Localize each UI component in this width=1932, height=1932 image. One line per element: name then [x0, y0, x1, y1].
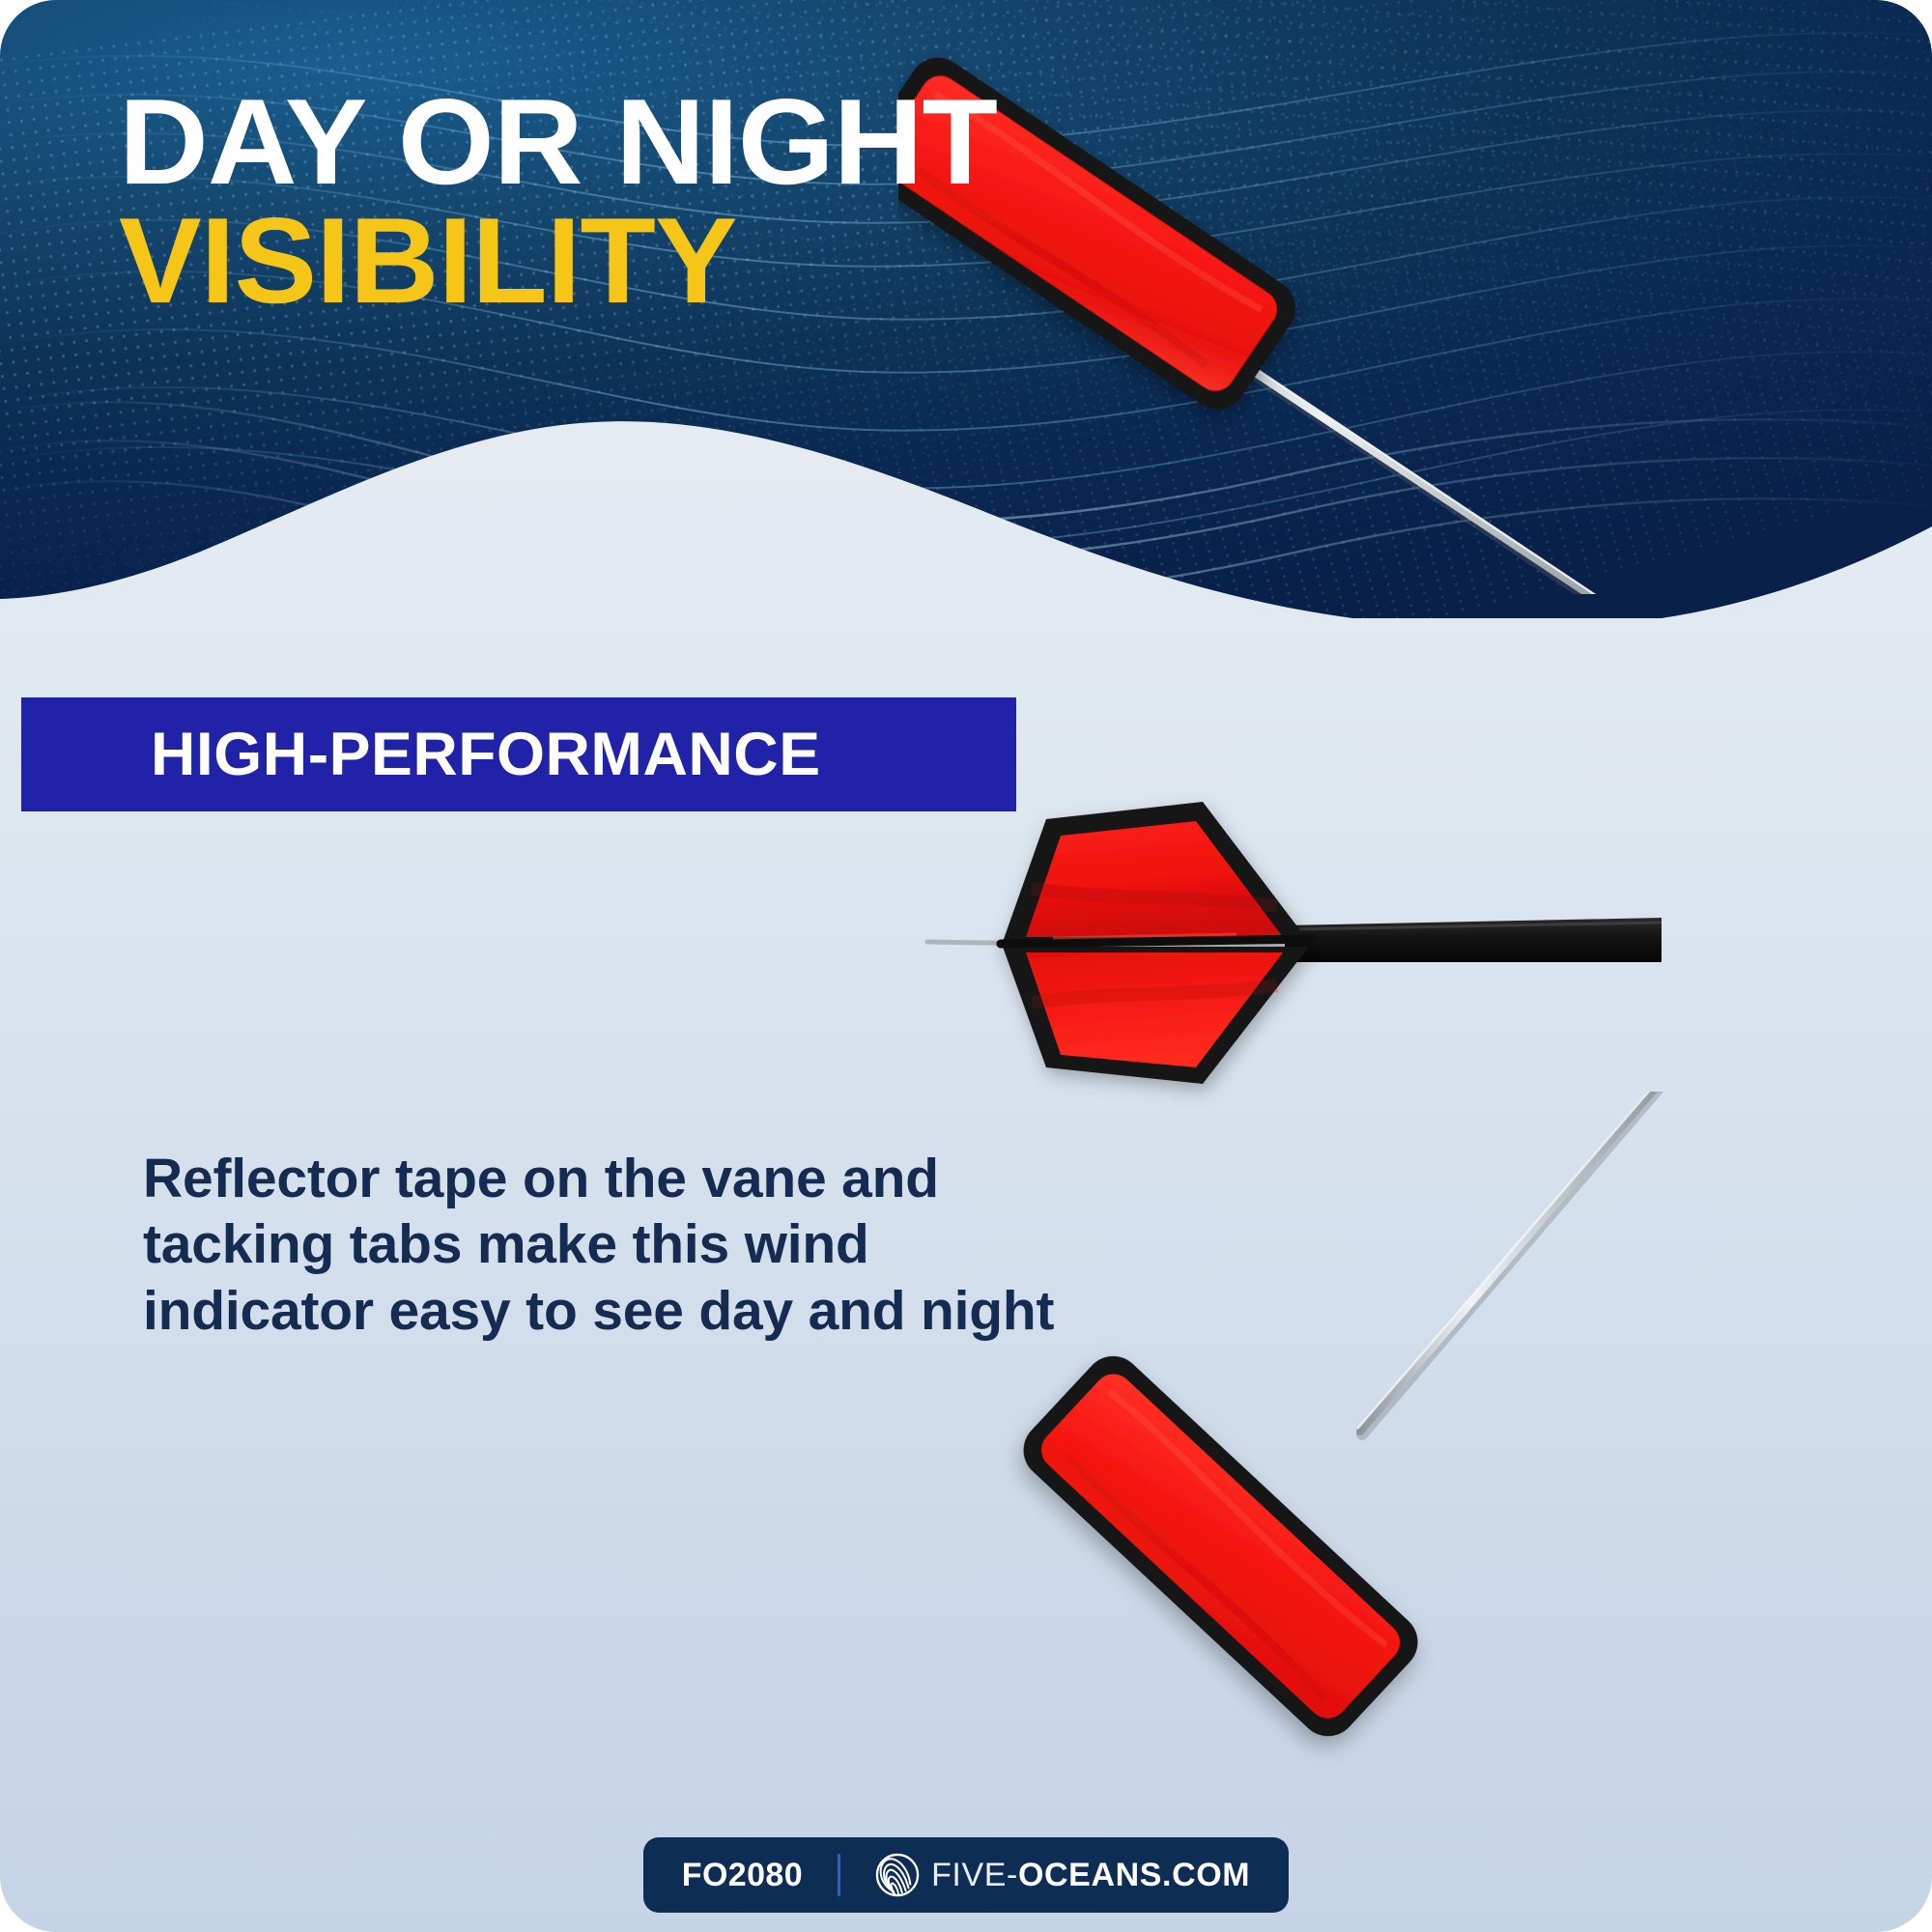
footer-badge: FO2080 FIVE-OCEANS.COM [643, 1837, 1289, 1913]
tacking-tab-wire [1358, 1092, 1671, 1435]
description-line-2: tacking tabs make this wind [143, 1211, 1070, 1277]
tacking-tab-body [1011, 1345, 1430, 1748]
product-feature-card: DAY OR NIGHT VISIBILITY HIGH-PERFORMANCE… [0, 0, 1932, 1932]
high-performance-banner: HIGH-PERFORMANCE [21, 697, 1016, 811]
sku-code: FO2080 [682, 1857, 803, 1894]
headline-block: DAY OR NIGHT VISIBILITY [119, 85, 980, 317]
brand-lockup: FIVE-OCEANS.COM [875, 1853, 1250, 1897]
banner-label: HIGH-PERFORMANCE [151, 720, 821, 789]
shell-logo-icon [875, 1853, 920, 1897]
vane-fletching [1001, 802, 1312, 1084]
feature-description: Reflector tape on the vane and tacking t… [143, 1146, 1070, 1344]
description-line-1: Reflector tape on the vane and [143, 1146, 1070, 1211]
headline-line-1: DAY OR NIGHT [119, 85, 997, 198]
vane-shaft [1285, 918, 1662, 962]
top-tacking-tab-photo [898, 53, 1633, 594]
brand-text: FIVE-OCEANS.COM [931, 1857, 1250, 1894]
footer-divider [838, 1854, 840, 1896]
brand-prefix: FIVE- [931, 1857, 1018, 1893]
description-line-3: indicator easy to see day and night [143, 1278, 1070, 1344]
brand-suffix: OCEANS.COM [1018, 1857, 1250, 1893]
headline-line-2: VISIBILITY [119, 204, 997, 317]
